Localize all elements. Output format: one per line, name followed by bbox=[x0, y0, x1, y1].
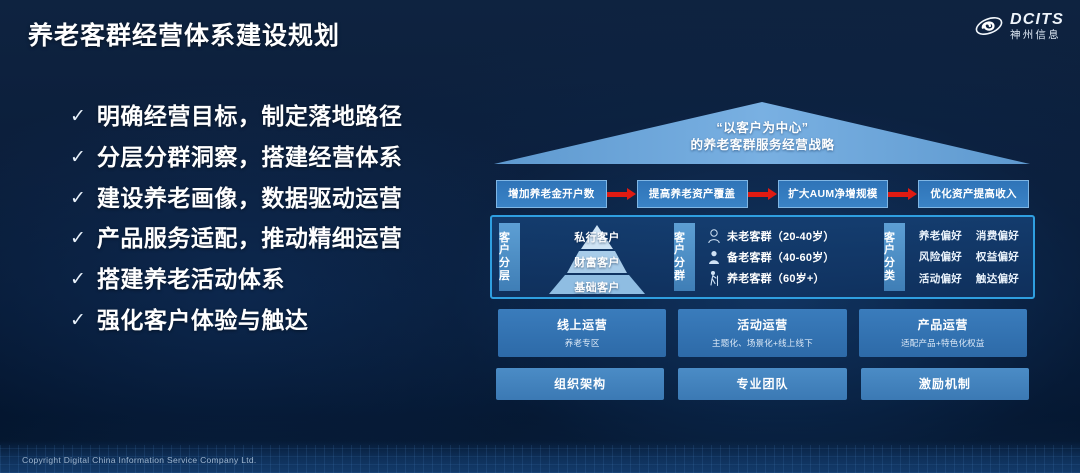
list-item-label: 分层分群洞察，搭建经营体系 bbox=[97, 145, 403, 170]
goal-box-2[interactable]: 提高养老资产覆盖 bbox=[637, 180, 748, 208]
list-item: ✓ 产品服务适配，推动精细运营 bbox=[70, 226, 470, 251]
segment-list: 未老客群（20-40岁） 备老客群（40-60岁） 养老客群（60岁+） bbox=[702, 223, 877, 291]
tier-vertical-label: 客户分层 bbox=[499, 223, 520, 291]
slide-root: 养老客群经营体系建设规划 DCITS 神州信息 ✓ 明确经营目标，制定落地路径 … bbox=[0, 0, 1080, 473]
arrow-right-icon bbox=[607, 188, 637, 200]
operation-card-online[interactable]: 线上运营 养老专区 bbox=[498, 309, 666, 357]
customer-analysis-panel: 客户分层 私行客户 财富客户 基础客户 客户分群 未老客群（20-40岁） bbox=[490, 215, 1035, 299]
check-icon: ✓ bbox=[70, 311, 86, 331]
operation-title: 活动运营 bbox=[681, 316, 843, 333]
check-icon: ✓ bbox=[70, 270, 86, 290]
tier-pyramid: 私行客户 财富客户 基础客户 bbox=[527, 223, 667, 291]
preference-tag: 触达偏好 bbox=[969, 271, 1026, 286]
check-icon: ✓ bbox=[70, 229, 86, 249]
operation-title: 线上运营 bbox=[501, 316, 663, 333]
arrow-right-icon bbox=[888, 188, 918, 200]
preference-tag: 养老偏好 bbox=[912, 228, 969, 243]
strategy-diagram: “以客户为中心” 的养老客群服务经营战略 增加养老金开户数 提高养老资产覆盖 扩… bbox=[490, 96, 1035, 400]
operation-subtitle: 主题化、场景化+线上线下 bbox=[681, 337, 843, 349]
check-icon: ✓ bbox=[70, 148, 86, 168]
category-vertical-label: 客户分类 bbox=[884, 223, 905, 291]
list-item: ✓ 建设养老画像，数据驱动运营 bbox=[70, 186, 470, 211]
roof-line-1: “以客户为中心” bbox=[490, 120, 1035, 137]
elder-cane-icon bbox=[707, 270, 721, 286]
operation-subtitle: 养老专区 bbox=[501, 337, 663, 349]
list-item: 未老客群（20-40岁） bbox=[707, 228, 877, 244]
preference-tag: 风险偏好 bbox=[912, 249, 969, 264]
segment-label: 未老客群（20-40岁） bbox=[727, 228, 835, 244]
preference-tag: 权益偏好 bbox=[969, 249, 1026, 264]
brand-logo: DCITS 神州信息 bbox=[974, 12, 1064, 41]
check-icon: ✓ bbox=[70, 107, 86, 127]
list-item-label: 强化客户体验与触达 bbox=[97, 308, 309, 333]
roof-line-2: 的养老客群服务经营战略 bbox=[490, 137, 1035, 154]
tier-level-1: 私行客户 bbox=[527, 229, 667, 245]
logo-cn: 神州信息 bbox=[1010, 30, 1064, 41]
dcits-swirl-logo-icon bbox=[974, 13, 1004, 39]
tier-level-3: 基础客户 bbox=[527, 279, 667, 295]
arrow-right-icon bbox=[748, 188, 778, 200]
foundation-card-org[interactable]: 组织架构 bbox=[496, 368, 664, 400]
goal-chain: 增加养老金开户数 提高养老资产覆盖 扩大AUM净增规模 优化资产提高收入 bbox=[490, 180, 1035, 208]
operations-row: 线上运营 养老专区 活动运营 主题化、场景化+线上线下 产品运营 适配产品+特色… bbox=[490, 309, 1035, 357]
goal-box-1[interactable]: 增加养老金开户数 bbox=[496, 180, 607, 208]
key-points-list: ✓ 明确经营目标，制定落地路径 ✓ 分层分群洞察，搭建经营体系 ✓ 建设养老画像… bbox=[70, 104, 470, 349]
list-item: 备老客群（40-60岁） bbox=[707, 249, 877, 265]
roof-text-block: “以客户为中心” 的养老客群服务经营战略 bbox=[490, 120, 1035, 155]
operation-card-product[interactable]: 产品运营 适配产品+特色化权益 bbox=[859, 309, 1027, 357]
operation-title: 产品运营 bbox=[862, 316, 1024, 333]
logo-text-block: DCITS 神州信息 bbox=[1010, 12, 1064, 41]
young-person-icon bbox=[707, 228, 721, 244]
logo-en: DCITS bbox=[1010, 12, 1064, 28]
goal-box-3[interactable]: 扩大AUM净增规模 bbox=[778, 180, 889, 208]
preference-tag: 消费偏好 bbox=[969, 228, 1026, 243]
check-icon: ✓ bbox=[70, 189, 86, 209]
list-item-label: 产品服务适配，推动精细运营 bbox=[97, 226, 403, 251]
tier-level-2: 财富客户 bbox=[527, 254, 667, 270]
foundation-card-team[interactable]: 专业团队 bbox=[678, 368, 846, 400]
middle-person-icon bbox=[707, 249, 721, 265]
foundation-row: 组织架构 专业团队 激励机制 bbox=[490, 368, 1035, 400]
foundation-card-incentive[interactable]: 激励机制 bbox=[861, 368, 1029, 400]
list-item-label: 建设养老画像，数据驱动运营 bbox=[97, 186, 403, 211]
page-title: 养老客群经营体系建设规划 bbox=[28, 16, 340, 52]
list-item: ✓ 明确经营目标，制定落地路径 bbox=[70, 104, 470, 129]
list-item: ✓ 分层分群洞察，搭建经营体系 bbox=[70, 145, 470, 170]
list-item: ✓ 搭建养老活动体系 bbox=[70, 267, 470, 292]
table-row: 养老偏好 消费偏好 bbox=[912, 228, 1026, 243]
list-item: 养老客群（60岁+） bbox=[707, 270, 877, 286]
table-row: 活动偏好 触达偏好 bbox=[912, 271, 1026, 286]
list-item: ✓ 强化客户体验与触达 bbox=[70, 308, 470, 333]
segment-label: 备老客群（40-60岁） bbox=[727, 249, 835, 265]
operation-subtitle: 适配产品+特色化权益 bbox=[862, 337, 1024, 349]
list-item-label: 搭建养老活动体系 bbox=[97, 267, 285, 292]
preference-tag: 活动偏好 bbox=[912, 271, 969, 286]
goal-box-4[interactable]: 优化资产提高收入 bbox=[918, 180, 1029, 208]
strategy-roof: “以客户为中心” 的养老客群服务经营战略 bbox=[490, 96, 1035, 174]
list-item-label: 明确经营目标，制定落地路径 bbox=[97, 104, 403, 129]
segment-vertical-label: 客户分群 bbox=[674, 223, 695, 291]
table-row: 风险偏好 权益偏好 bbox=[912, 249, 1026, 264]
segment-label: 养老客群（60岁+） bbox=[727, 270, 825, 286]
copyright-text: Copyright Digital China Information Serv… bbox=[22, 455, 257, 465]
preference-grid: 养老偏好 消费偏好 风险偏好 权益偏好 活动偏好 触达偏好 bbox=[912, 223, 1026, 291]
operation-card-activity[interactable]: 活动运营 主题化、场景化+线上线下 bbox=[678, 309, 846, 357]
